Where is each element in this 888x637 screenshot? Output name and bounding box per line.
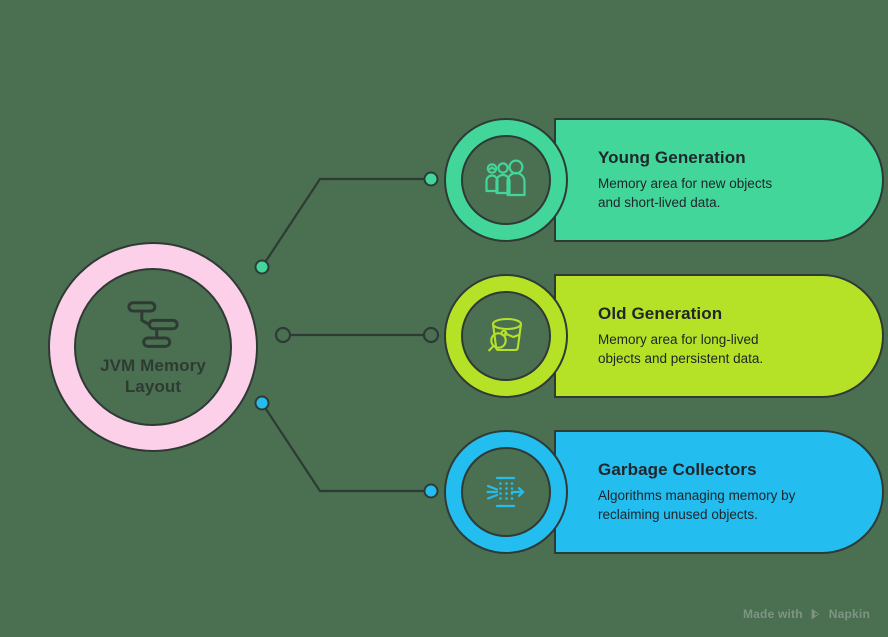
badge-inner-young-generation — [461, 135, 551, 225]
card-body-garbage-collectors: Garbage Collectors Algorithms managing m… — [554, 430, 884, 554]
filter-arrow-icon — [481, 467, 531, 517]
card-title-old-generation: Old Generation — [598, 304, 856, 324]
watermark-text: Made with — [743, 607, 803, 621]
hub-inner-circle: JVM Memory Layout — [74, 268, 232, 426]
hub-label: JVM Memory Layout — [88, 355, 218, 398]
connector-line-gc — [262, 403, 424, 491]
watermark-brand: Napkin — [829, 607, 870, 621]
napkin-logo-icon — [809, 607, 823, 621]
card-badge-old-generation — [444, 274, 568, 398]
connector-dot-hub-gc — [256, 397, 269, 410]
connector-dot-hub-young — [256, 261, 269, 274]
connector-dot-card-young — [425, 173, 438, 186]
card-title-garbage-collectors: Garbage Collectors — [598, 460, 856, 480]
hub-node-jvm-memory-layout[interactable]: JVM Memory Layout — [48, 242, 258, 452]
card-badge-garbage-collectors — [444, 430, 568, 554]
diagram-canvas: JVM Memory Layout Young Generation Memor… — [0, 0, 888, 637]
hierarchy-layout-icon — [123, 299, 183, 351]
badge-inner-old-generation — [461, 291, 551, 381]
card-description-young-generation: Memory area for new objects and short-li… — [598, 175, 798, 212]
card-body-old-generation: Old Generation Memory area for long-live… — [554, 274, 884, 398]
badge-inner-garbage-collectors — [461, 447, 551, 537]
connector-dot-card-gc — [425, 485, 438, 498]
card-title-young-generation: Young Generation — [598, 148, 856, 168]
card-description-old-generation: Memory area for long-lived objects and p… — [598, 331, 798, 368]
watermark: Made with Napkin — [743, 607, 870, 621]
card-description-garbage-collectors: Algorithms managing memory by reclaiming… — [598, 487, 798, 524]
people-group-icon — [481, 155, 531, 205]
connector-dot-card-old — [424, 328, 438, 342]
connector-dot-hub-old — [276, 328, 290, 342]
bucket-magnifier-icon — [481, 311, 531, 361]
card-body-young-generation: Young Generation Memory area for new obj… — [554, 118, 884, 242]
card-badge-young-generation — [444, 118, 568, 242]
connector-line-young — [262, 179, 424, 267]
